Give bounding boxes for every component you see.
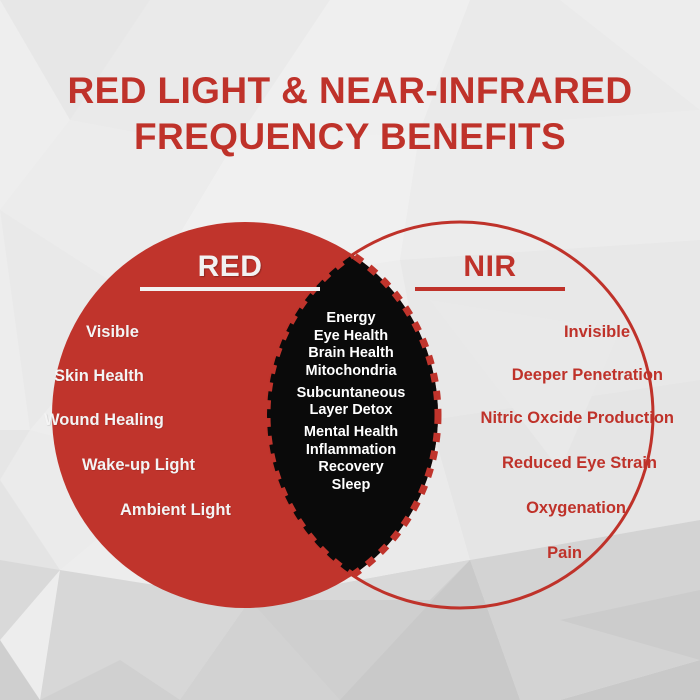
nir-circle-heading: NIR	[415, 250, 565, 291]
red-benefit-list: Visible Skin Health Wound Healing Wake-u…	[44, 322, 294, 520]
list-item: Invisible	[564, 322, 630, 342]
list-item: Oxygenation	[526, 498, 626, 518]
page-title: RED LIGHT & NEAR-INFRARED FREQUENCY BENE…	[0, 68, 700, 160]
title-line-2: FREQUENCY BENEFITS	[0, 114, 700, 160]
shared-benefit-list: Energy Eye Health Brain Health Mitochond…	[290, 310, 412, 494]
list-item: Pain	[547, 543, 582, 563]
list-item: Mental Health	[290, 424, 412, 442]
title-line-1: RED LIGHT & NEAR-INFRARED	[0, 68, 700, 114]
list-item: Sleep	[290, 477, 412, 495]
list-item: Subcuntaneous Layer Detox	[290, 385, 412, 419]
list-item: Wake-up Light	[82, 455, 195, 475]
list-item: Brain Health	[290, 345, 412, 363]
list-item: Reduced Eye Strain	[502, 453, 657, 473]
list-item: Visible	[86, 322, 139, 342]
list-item: Recovery	[290, 459, 412, 477]
list-item: Ambient Light	[120, 500, 231, 520]
red-circle-heading: RED	[140, 250, 320, 291]
list-item: Skin Health	[54, 366, 144, 386]
list-item: Deeper Penetration	[512, 365, 663, 385]
nir-benefit-list: Invisible Deeper Penetration Nitric Oxci…	[424, 322, 674, 563]
list-item: Inflammation	[290, 442, 412, 460]
list-item: Wound Healing	[44, 410, 164, 430]
list-item: Energy	[290, 310, 412, 328]
infographic-poster: RED LIGHT & NEAR-INFRARED FREQUENCY BENE…	[0, 0, 700, 700]
list-item: Eye Health	[290, 328, 412, 346]
list-item: Mitochondria	[290, 363, 412, 381]
list-item: Nitric Oxcide Production	[481, 408, 674, 428]
